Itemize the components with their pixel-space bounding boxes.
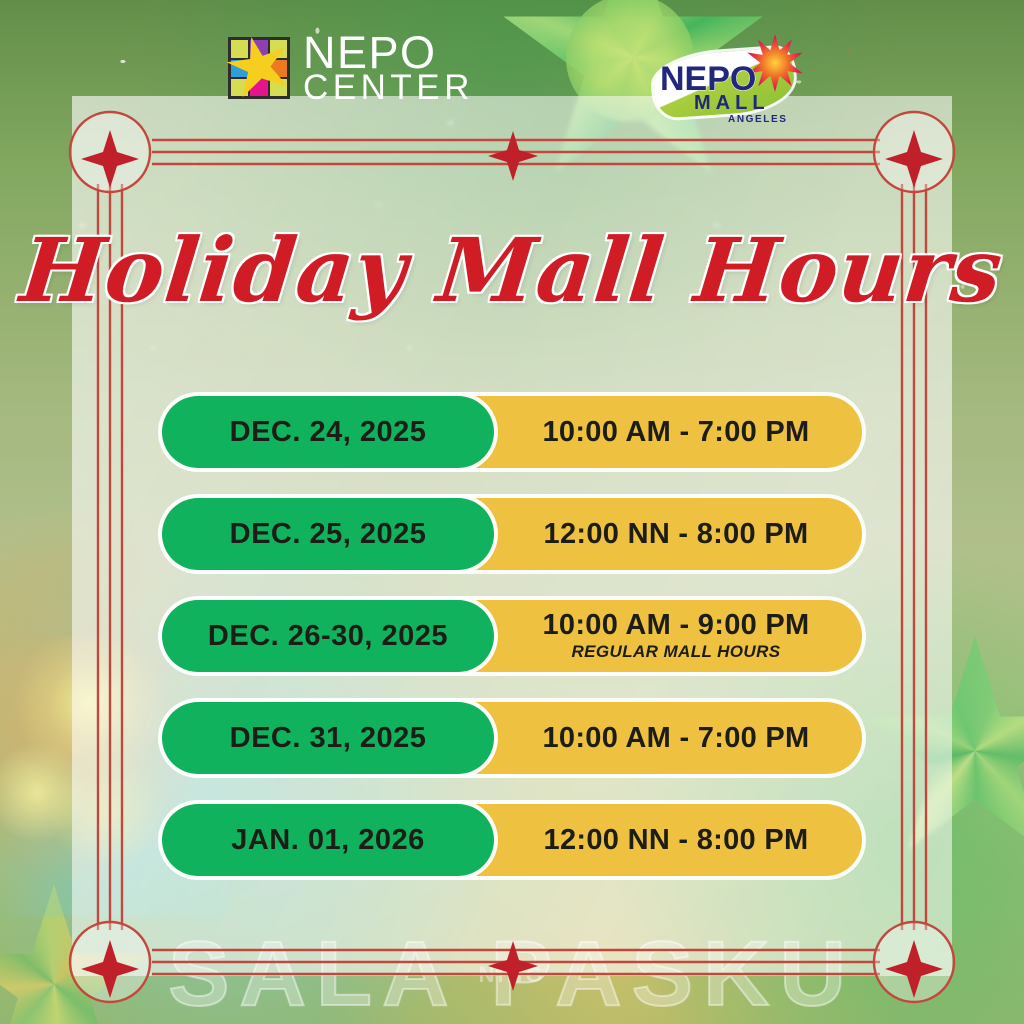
- watermark-subtext: NING: [0, 962, 1024, 988]
- schedule-row: 12:00 NN - 8:00 PM JAN. 01, 2026: [162, 804, 862, 876]
- schedule-row: 12:00 NN - 8:00 PM DEC. 25, 2025: [162, 498, 862, 570]
- date-text: DEC. 26-30, 2025: [208, 620, 448, 653]
- hours-note: REGULAR MALL HOURS: [572, 642, 781, 662]
- hours-text: 10:00 AM - 9:00 PM: [542, 610, 809, 640]
- hours-text: 12:00 NN - 8:00 PM: [544, 825, 809, 855]
- hours-text: 10:00 AM - 7:00 PM: [542, 723, 809, 753]
- schedule-row: 10:00 AM - 7:00 PM DEC. 31, 2025: [162, 702, 862, 774]
- nepo-mall-line3: ANGELES: [728, 114, 788, 125]
- date-pill: DEC. 25, 2025: [162, 498, 494, 570]
- header-logos: NEPO CENTER NEPO MALL ANGELES: [0, 26, 1024, 106]
- hours-text: 12:00 NN - 8:00 PM: [544, 519, 809, 549]
- date-text: JAN. 01, 2026: [231, 824, 425, 857]
- schedule-row: 10:00 AM - 7:00 PM DEC. 24, 2025: [162, 396, 862, 468]
- date-pill: DEC. 24, 2025: [162, 396, 494, 468]
- page-title: Holiday Mall Hours: [0, 218, 1024, 322]
- date-pill: DEC. 26-30, 2025: [162, 600, 494, 672]
- date-pill: JAN. 01, 2026: [162, 804, 494, 876]
- nepo-center-line1: NEPO: [303, 34, 474, 73]
- holiday-mall-hours-poster: SALA PASKU NING: [0, 0, 1024, 1024]
- date-pill: DEC. 31, 2025: [162, 702, 494, 774]
- nepo-center-line2: CENTER: [303, 73, 474, 103]
- nepo-mosaic-star-icon: [228, 37, 290, 99]
- schedule-list: 10:00 AM - 7:00 PM DEC. 24, 2025 12:00 N…: [162, 396, 862, 906]
- schedule-row: 10:00 AM - 9:00 PM REGULAR MALL HOURS DE…: [162, 600, 862, 672]
- date-text: DEC. 25, 2025: [230, 518, 427, 551]
- date-text: DEC. 31, 2025: [230, 722, 427, 755]
- nepo-mall-line2: MALL: [694, 92, 770, 115]
- hours-text: 10:00 AM - 7:00 PM: [542, 417, 809, 447]
- date-text: DEC. 24, 2025: [230, 416, 427, 449]
- nepo-center-logo[interactable]: NEPO CENTER: [228, 34, 474, 103]
- nepo-mall-logo[interactable]: NEPO MALL ANGELES: [650, 38, 800, 128]
